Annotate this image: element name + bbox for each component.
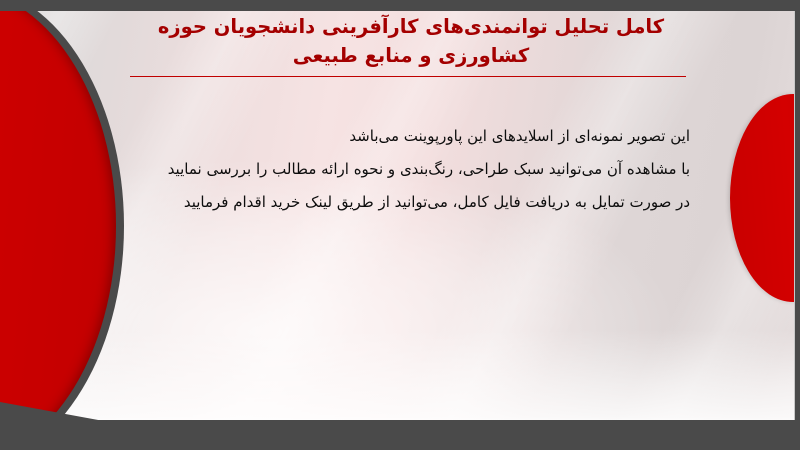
slide-frame-top xyxy=(0,0,800,11)
slide-frame-right xyxy=(795,0,800,450)
slide-title: کامل تحلیل توانمندی‌های کارآفرینی دانشجو… xyxy=(96,12,726,70)
slide-body-line-2: با مشاهده آن می‌توانید سبک طراحی، رنگ‌بن… xyxy=(130,153,690,186)
slide-frame-bottom xyxy=(0,420,800,450)
slide-body-text: این تصویر نمونه‌ای از اسلایدهای این پاور… xyxy=(130,120,690,219)
slide-background-bottom-fade xyxy=(0,330,796,422)
presentation-slide: کامل تحلیل توانمندی‌های کارآفرینی دانشجو… xyxy=(0,0,800,450)
slide-title-line-2: کشاورزی و منابع طبیعی xyxy=(96,41,726,70)
slide-body-line-3: در صورت تمایل به دریافت فایل کامل، می‌تو… xyxy=(130,186,690,219)
title-underline-rule xyxy=(130,76,686,77)
slide-title-line-1: کامل تحلیل توانمندی‌های کارآفرینی دانشجو… xyxy=(96,12,726,41)
slide-body-line-1: این تصویر نمونه‌ای از اسلایدهای این پاور… xyxy=(130,120,690,153)
